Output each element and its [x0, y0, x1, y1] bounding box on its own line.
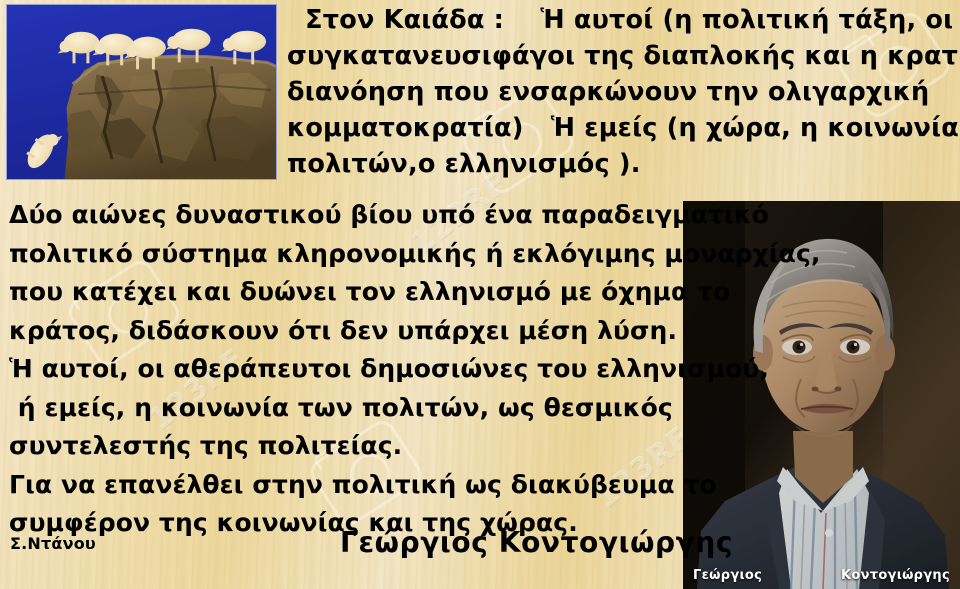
quote-line: πολιτών,ο ελληνισμός ).: [287, 146, 955, 182]
quote-line: κομματοκρατία) Ἡ εμείς (η χώρα, η κοινων…: [287, 110, 955, 146]
poster-canvas: 123RF 123RF 123RF 123RF: [0, 0, 960, 589]
quote-line: διανόηση που ενσαρκώνουν την ολιγαρχική: [287, 74, 955, 110]
quote-line: ή εμείς, η κοινωνία των πολιτών, ως θεσμ…: [9, 389, 699, 428]
author-signature: Γεώργιος Κοντογιώργης: [340, 526, 733, 559]
quote-line: Στον Καιάδα : Ἡ αυτοί (η πολιτική τάξη, …: [287, 2, 955, 38]
sheep-cliff-illustration: [7, 5, 276, 179]
quote-line: Για να επανέλθει στην πολιτική ως διακύβ…: [9, 466, 699, 505]
quote-line: πολιτικό σύστημα κληρονομικής ή εκλόγιμη…: [9, 235, 699, 274]
quote-line: που κατέχει και δυώνει τον ελληνισμό με …: [9, 273, 699, 312]
quote-block-top: Στον Καιάδα : Ἡ αυτοί (η πολιτική τάξη, …: [287, 2, 955, 182]
quote-line: Δύο αιώνες δυναστικού βίου υπό ένα παραδ…: [9, 196, 699, 235]
quote-block-main: Δύο αιώνες δυναστικού βίου υπό ένα παραδ…: [9, 196, 699, 543]
contributor-signature: Σ.Ντάνου: [10, 534, 96, 553]
quote-line: συντελεστής της πολιτείας.: [9, 427, 699, 466]
portrait-caption-firstname: Γεώργιος: [693, 568, 762, 583]
sheep-on-cliff-photo: [6, 4, 277, 180]
quote-line: συγκατανευσιφάγοι της διαπλοκής και η κρ…: [287, 38, 955, 74]
quote-line: κράτος, διδάσκουν ότι δεν υπάρχει μέση λ…: [9, 312, 699, 351]
quote-line: Ἡ αυτοί, οι αθεράπευτοι δημοσιώνες του ε…: [9, 350, 699, 389]
portrait-caption-lastname: Κοντογιώργης: [841, 568, 950, 583]
portrait-caption: Γεώργιος Κοντογιώργης: [683, 568, 960, 583]
